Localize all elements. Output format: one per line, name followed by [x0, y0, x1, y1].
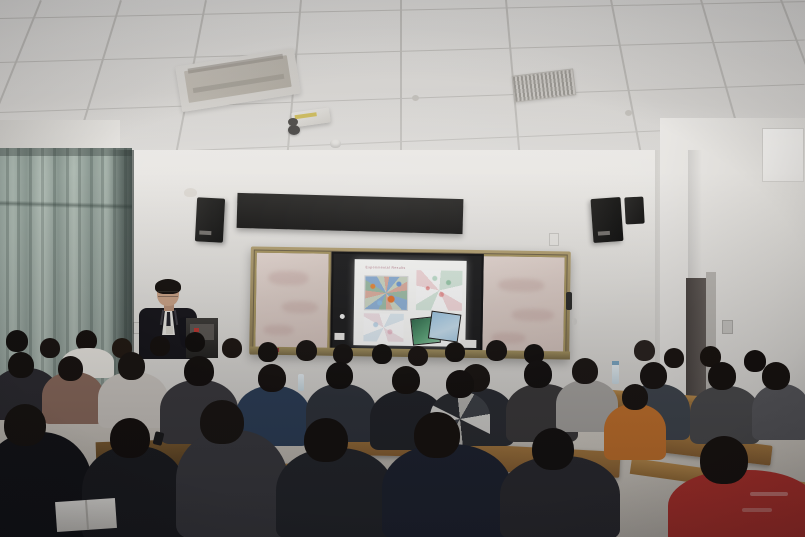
screen-indicator-dot [340, 314, 345, 319]
wall-outlet-icon [549, 233, 559, 246]
student-blue-jacket [382, 444, 512, 537]
student-head [58, 356, 83, 381]
board-side-knob [566, 292, 572, 310]
student-head [664, 348, 684, 368]
student-head [333, 344, 353, 364]
student-head [762, 362, 790, 390]
student-body [752, 384, 805, 440]
slide-title: Experimental Results [366, 265, 406, 270]
presenter-badge [166, 326, 173, 334]
speaker-logo [598, 231, 610, 236]
jacket-print [742, 508, 772, 512]
student-head [304, 418, 348, 462]
lecture-hall-photo: Experimental Results [0, 0, 805, 537]
student-head [486, 340, 507, 361]
student-head [372, 344, 392, 364]
student-head [392, 366, 420, 394]
water-bottle [298, 374, 304, 391]
student-head [150, 336, 170, 356]
student-head [185, 332, 205, 352]
student-head [4, 404, 46, 446]
speaker-logo [199, 230, 211, 235]
whiteboard-panel-left [253, 251, 331, 352]
student-body [176, 430, 288, 537]
slide-panel-blue-speckle [363, 313, 403, 342]
student-head [8, 352, 34, 378]
student-head [184, 356, 214, 386]
light-switch-icon[interactable] [722, 320, 733, 334]
student-head [326, 362, 353, 389]
bottle-cap [612, 361, 619, 365]
student-head [110, 418, 150, 458]
student-head [258, 364, 286, 392]
student-head [118, 352, 145, 380]
student-head [572, 358, 598, 384]
student-head [700, 436, 748, 484]
student-head [634, 340, 655, 361]
student-head [222, 338, 242, 358]
student-head [6, 330, 28, 352]
speaker-right-b [624, 197, 644, 225]
slide-panel-micrograph-color [364, 275, 409, 311]
slide-panel-photo-blue [428, 311, 462, 343]
wall-beam-panel [237, 193, 464, 234]
student-orange-top [604, 404, 666, 460]
screen-tab-left [334, 333, 344, 340]
student-head [414, 412, 460, 458]
student-head [296, 340, 317, 361]
speaker-left [195, 197, 225, 242]
wall-notice-sign [762, 128, 804, 182]
student-head [622, 384, 648, 410]
student-head [200, 400, 244, 444]
student-head [258, 342, 278, 362]
student-body [276, 448, 394, 537]
board-side-screw [572, 318, 577, 325]
speaker-right-a [591, 197, 624, 243]
student-head [40, 338, 60, 358]
projection-screen: Experimental Results [330, 252, 484, 354]
student-head [708, 362, 736, 390]
slide-panel-spotted-map [416, 270, 463, 311]
student-head [446, 370, 474, 398]
dome-camera-icon [184, 188, 197, 197]
water-bottle [612, 364, 619, 384]
jacket-print [750, 492, 788, 496]
student-head [445, 342, 465, 362]
student-head [524, 360, 552, 388]
glasses-icon [158, 291, 178, 297]
student-head [640, 362, 667, 389]
student-head [532, 428, 574, 470]
presentation-slide: Experimental Results [353, 259, 466, 347]
student-head [408, 346, 428, 366]
whiteboard-assembly: Experimental Results [249, 246, 571, 359]
